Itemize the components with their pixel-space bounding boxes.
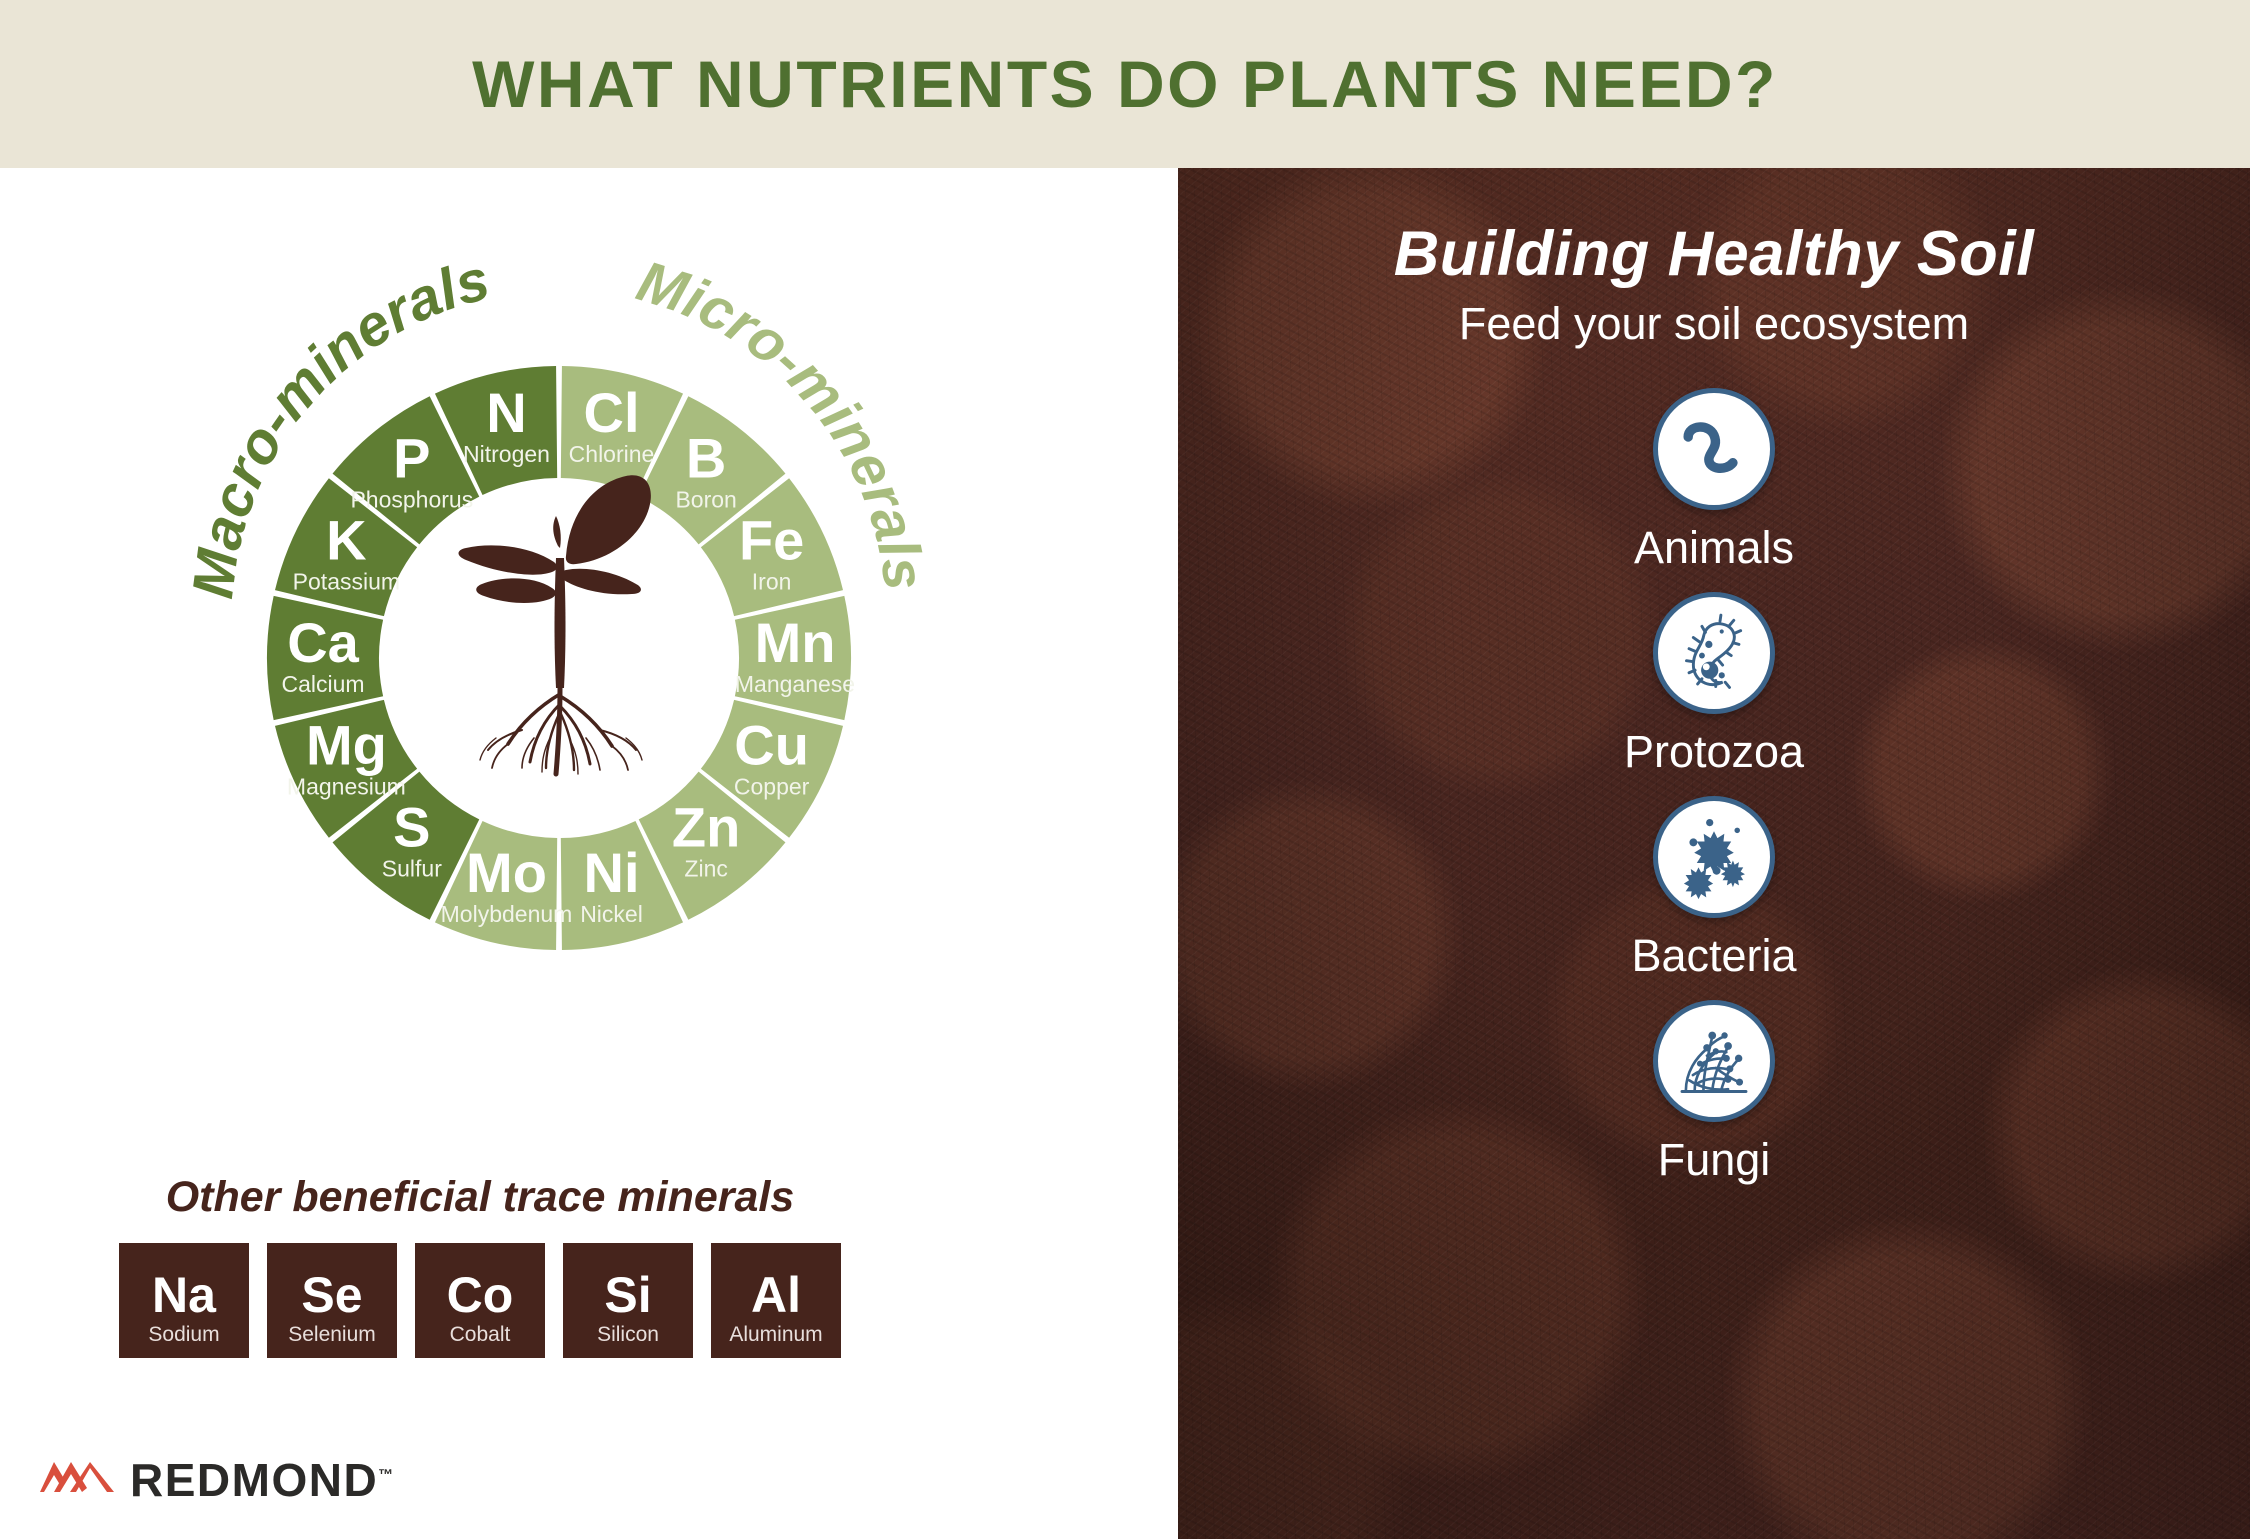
worm-icon — [1653, 388, 1775, 510]
protozoa-icon — [1653, 592, 1775, 714]
soil-panel-title: Building Healthy Soil — [1178, 218, 2250, 290]
mineral-name-mn: Manganese — [735, 671, 855, 697]
soil-ecosystem-label: Bacteria — [1631, 930, 1796, 982]
mineral-symbol-n: N — [486, 381, 526, 444]
mineral-symbol-cu: Cu — [734, 713, 809, 776]
mineral-symbol-zn: Zn — [672, 796, 740, 859]
page-header: WHAT NUTRIENTS DO PLANTS NEED? — [0, 0, 2250, 168]
soil-ecosystem-label: Fungi — [1658, 1134, 1771, 1186]
mineral-name-ni: Nickel — [580, 901, 643, 927]
mineral-symbol-k: K — [326, 509, 366, 572]
mineral-name-cu: Copper — [734, 773, 810, 799]
soil-ecosystem-item-fungi[interactable]: Fungi — [1178, 1000, 2250, 1186]
mountains-icon — [40, 1460, 114, 1500]
soil-ecosystem-item-bacteria[interactable]: Bacteria — [1178, 796, 2250, 982]
trace-name: Silicon — [597, 1322, 659, 1348]
mineral-symbol-fe: Fe — [739, 509, 804, 572]
mineral-name-ca: Calcium — [281, 671, 364, 697]
soil-ecosystem-label: Protozoa — [1624, 726, 1804, 778]
trace-symbol: Se — [301, 1270, 362, 1320]
mineral-symbol-mn: Mn — [755, 611, 836, 674]
mineral-name-mg: Magnesium — [287, 773, 406, 799]
trace-mineral-tile-na[interactable]: NaSodium — [119, 1243, 249, 1358]
mineral-name-mo: Molybdenum — [441, 901, 573, 927]
soil-ecosystem-item-animals[interactable]: Animals — [1178, 388, 2250, 574]
mineral-symbol-cl: Cl — [584, 381, 640, 444]
soil-panel: Building Healthy Soil Feed your soil eco… — [1178, 168, 2250, 1539]
nutrient-wheel: NNitrogenPPhosphorusKPotassiumCaCalciumM… — [50, 188, 1070, 1068]
trace-symbol: Al — [751, 1270, 801, 1320]
trace-mineral-tile-si[interactable]: SiSilicon — [563, 1243, 693, 1358]
soil-panel-subtitle: Feed your soil ecosystem — [1178, 298, 2250, 350]
mineral-name-s: Sulfur — [382, 856, 442, 882]
trace-mineral-tile-al[interactable]: AlAluminum — [711, 1243, 841, 1358]
mineral-name-zn: Zinc — [684, 856, 727, 882]
redmond-name: REDMOND — [130, 1454, 378, 1506]
plant-sprout-icon — [430, 438, 690, 788]
trace-minerals-title: Other beneficial trace minerals — [0, 1173, 960, 1222]
fungi-icon — [1653, 1000, 1775, 1122]
mineral-symbol-mg: Mg — [306, 713, 387, 776]
trace-minerals-row: NaSodiumSeSeleniumCoCobaltSiSiliconAlAlu… — [0, 1243, 960, 1358]
trace-name: Sodium — [148, 1322, 219, 1348]
trace-name: Aluminum — [729, 1322, 822, 1348]
mineral-symbol-b: B — [686, 426, 726, 489]
page-title: WHAT NUTRIENTS DO PLANTS NEED? — [472, 46, 1778, 122]
trace-symbol: Co — [447, 1270, 514, 1320]
mineral-symbol-mo: Mo — [466, 841, 547, 904]
mineral-symbol-p: P — [393, 426, 430, 489]
trace-name: Cobalt — [450, 1322, 511, 1348]
trace-symbol: Na — [152, 1270, 216, 1320]
mineral-name-k: Potassium — [293, 569, 400, 595]
redmond-logo[interactable]: REDMOND™ — [40, 1453, 393, 1507]
trace-mineral-tile-se[interactable]: SeSelenium — [267, 1243, 397, 1358]
trace-mineral-tile-co[interactable]: CoCobalt — [415, 1243, 545, 1358]
bacteria-icon — [1653, 796, 1775, 918]
soil-ecosystem-item-protozoa[interactable]: Protozoa — [1178, 592, 2250, 778]
mineral-symbol-ni: Ni — [584, 841, 640, 904]
soil-ecosystem-label: Animals — [1634, 522, 1794, 574]
mineral-name-fe: Iron — [752, 569, 792, 595]
nutrients-panel: NNitrogenPPhosphorusKPotassiumCaCalciumM… — [0, 168, 1178, 1539]
trademark-symbol: ™ — [378, 1467, 393, 1484]
redmond-wordmark: REDMOND™ — [130, 1453, 393, 1507]
trace-symbol: Si — [604, 1270, 651, 1320]
mineral-symbol-s: S — [393, 796, 430, 859]
mineral-symbol-ca: Ca — [287, 611, 359, 674]
soil-ecosystem-list: Animals — [1178, 388, 2250, 1204]
trace-name: Selenium — [288, 1322, 376, 1348]
